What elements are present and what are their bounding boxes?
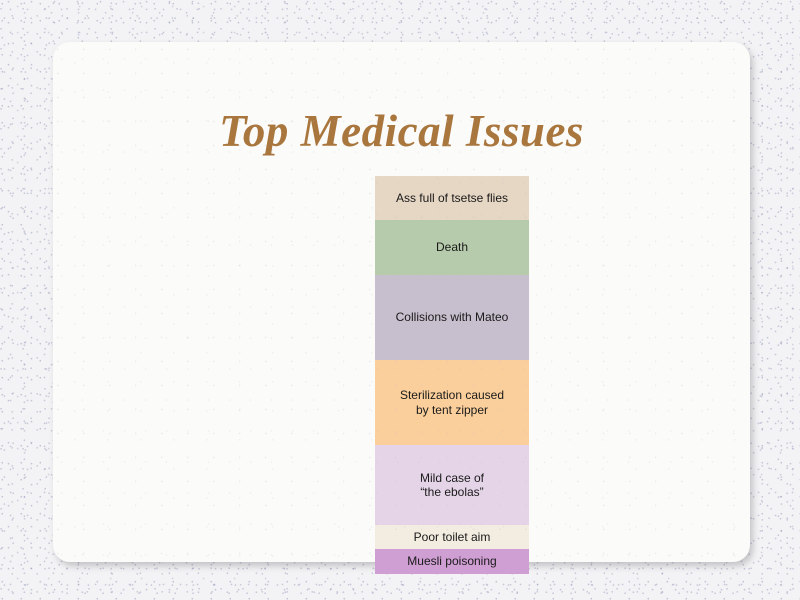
bar-segment: Mild case of “the ebolas”	[375, 445, 529, 525]
bar-segment: Muesli poisoning	[375, 549, 529, 574]
bar-segment-label: Poor toilet aim	[414, 530, 491, 545]
bar-segment: Collisions with Mateo	[375, 275, 529, 360]
page-title: Top Medical Issues	[53, 105, 750, 157]
stacked-bar-chart: Ass full of tsetse fliesDeathCollisions …	[375, 176, 529, 574]
bar-segment: Death	[375, 220, 529, 275]
bar-segment-label: Death	[436, 240, 468, 255]
bar-segment: Poor toilet aim	[375, 525, 529, 549]
bar-segment-label: Muesli poisoning	[407, 554, 496, 569]
bar-segment-label: Sterilization caused by tent zipper	[400, 388, 504, 417]
bar-segment: Sterilization caused by tent zipper	[375, 360, 529, 445]
bar-segment-label: Collisions with Mateo	[396, 310, 509, 325]
bar-segment: Ass full of tsetse flies	[375, 176, 529, 220]
slide-card: Top Medical Issues Ass full of tsetse fl…	[53, 42, 750, 562]
bar-segment-label: Mild case of “the ebolas”	[420, 471, 484, 500]
bar-segment-label: Ass full of tsetse flies	[396, 191, 508, 206]
